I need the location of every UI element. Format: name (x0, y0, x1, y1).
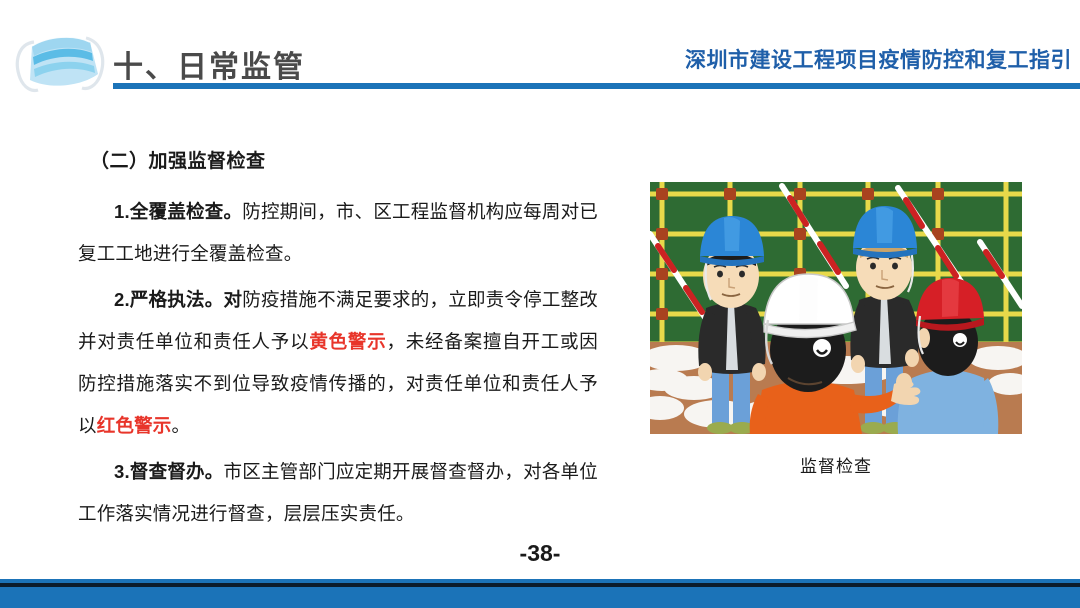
page-number: -38- (0, 540, 1080, 567)
surgical-mask-icon (12, 30, 108, 96)
header-divider (113, 83, 1080, 89)
paragraph-1-number: 1. (114, 201, 130, 222)
figure-caption: 监督检查 (650, 452, 1022, 477)
inspection-illustration-svg (650, 182, 1022, 434)
paragraph-2-lead: 严格执法。对 (130, 289, 242, 310)
paragraph-3: 3.督查督办。市区主管部门应定期开展督查督办，对各单位工作落实情况进行督查，层层… (78, 451, 598, 535)
yellow-warning-highlight: 黄色警示 (309, 331, 386, 352)
section-heading: （二）加强监督检查 (90, 146, 598, 173)
page-title: 十、日常监管 (113, 42, 305, 86)
paragraph-1: 1.全覆盖检查。防控期间，市、区工程监督机构应每周对已复工工地进行全覆盖检查。 (78, 191, 598, 275)
paragraph-3-lead: 督查督办。 (130, 461, 224, 482)
slide-page: 十、日常监管 深圳市建设工程项目疫情防控和复工指引 （二）加强监督检查 1.全覆… (0, 0, 1080, 608)
main-content: （二）加强监督检查 1.全覆盖检查。防控期间，市、区工程监督机构应每周对已复工工… (78, 146, 598, 539)
document-title: 深圳市建设工程项目疫情防控和复工指引 (685, 44, 1072, 74)
paragraph-2-number: 2. (114, 289, 130, 310)
inspection-illustration (650, 182, 1022, 434)
footer-bar (0, 587, 1080, 608)
red-warning-highlight: 红色警示 (97, 415, 172, 436)
paragraph-2: 2.严格执法。对防疫措施不满足要求的，立即责令停工整改并对责任单位和责任人予以黄… (78, 279, 598, 447)
slide-header: 十、日常监管 深圳市建设工程项目疫情防控和复工指引 (0, 0, 1080, 100)
paragraph-3-number: 3. (114, 461, 130, 482)
paragraph-2-body-3: 。 (172, 415, 191, 436)
paragraph-1-lead: 全覆盖检查。 (130, 201, 242, 222)
